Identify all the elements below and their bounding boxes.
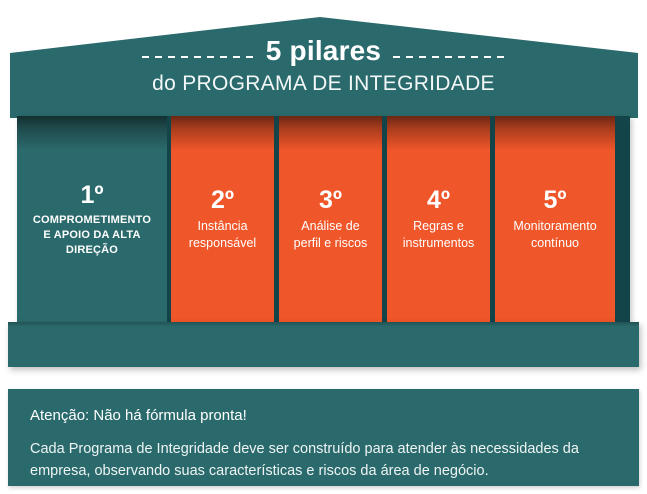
pillar-1-content: 1º COMPROMETIMENTO E APOIO DA ALTA DIREÇ… [27,182,157,258]
pillar-2: 2º Instância responsável [171,116,274,323]
note-heading: Atenção: Não há fórmula pronta! [30,407,617,425]
pillar-2-number: 2º [189,187,256,213]
pillar-2-label: Instância responsável [189,218,256,252]
pillar-5-label: Monitoramento contínuo [513,218,596,252]
pillar-3-content: 3º Análise de perfil e riscos [288,187,374,252]
pillar-1-number: 1º [33,182,151,208]
temple-graphic: 5 pilares do PROGRAMA DE INTEGRIDADE 1º … [0,0,647,372]
note-box: Atenção: Não há fórmula pronta! Cada Pro… [8,389,639,486]
infographic-5-pilares: 5 pilares do PROGRAMA DE INTEGRIDADE 1º … [0,0,647,494]
pillar-4-label: Regras e instrumentos [403,218,475,252]
pillar-row: 1º COMPROMETIMENTO E APOIO DA ALTA DIREÇ… [17,116,630,323]
pillar-3: 3º Análise de perfil e riscos [279,116,382,323]
pillar-1: 1º COMPROMETIMENTO E APOIO DA ALTA DIREÇ… [17,116,167,323]
pillar-1-label: COMPROMETIMENTO E APOIO DA ALTA DIREÇÃO [33,213,151,258]
pillar-3-number: 3º [294,187,368,213]
temple-base [8,322,639,367]
pillar-5-content: 5º Monitoramento contínuo [507,187,602,252]
pillar-4-content: 4º Regras e instrumentos [397,187,481,252]
pillar-3-label: Análise de perfil e riscos [294,218,368,252]
pillar-4: 4º Regras e instrumentos [387,116,490,323]
pillar-5: 5º Monitoramento contínuo [495,116,615,323]
pillar-5-number: 5º [513,187,596,213]
pillar-4-number: 4º [403,187,475,213]
note-body: Cada Programa de Integridade deve ser co… [30,439,617,483]
pillar-2-content: 2º Instância responsável [183,187,262,252]
roof-pediment [0,0,647,118]
